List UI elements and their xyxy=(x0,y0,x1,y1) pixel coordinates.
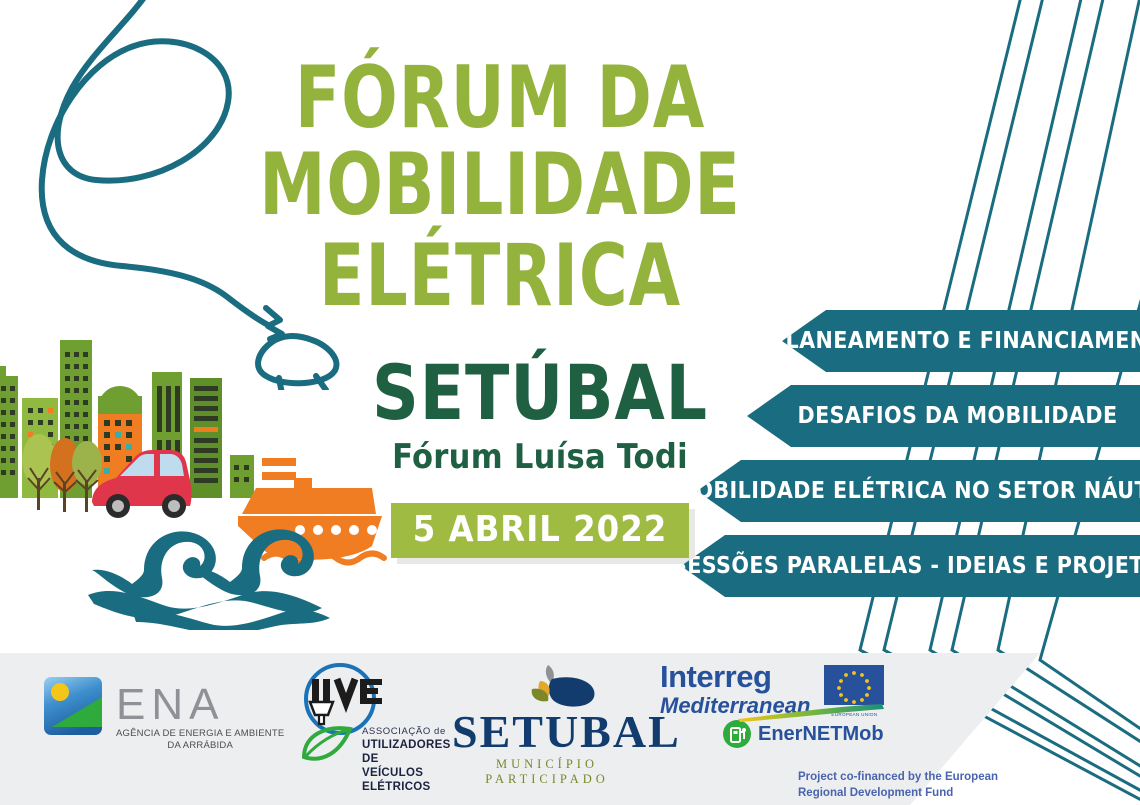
setubal-wordmark: SETUBAL xyxy=(452,709,642,755)
enernetmob-wordmark: EnerNETMob xyxy=(758,724,884,744)
title-line-2: MOBILIDADE ELÉTRICA xyxy=(70,140,930,321)
ena-subtitle-line2: DA ARRÁBIDA xyxy=(116,740,284,751)
ena-mark-icon xyxy=(40,673,114,747)
topic-banner-nautico[interactable]: MOBILIDADE ELÉTRICA NO SETOR NÁUTICO xyxy=(697,460,1140,522)
topic-banner-sessoes[interactable]: SESSÕES PARALELAS - IDEIAS E PROJETOS xyxy=(681,535,1140,597)
setubal-tagline: MUNICÍPIO PARTICIPADO xyxy=(452,757,642,787)
tree-group xyxy=(22,434,102,512)
poster-title: FÓRUM DA MOBILIDADE ELÉTRICA xyxy=(0,56,1000,321)
financing-note-line2: Regional Development Fund xyxy=(798,786,998,802)
financing-note-line1: Project co-financed by the European xyxy=(798,770,998,786)
logo-uve[interactable]: ASSOCIAÇÃO de UTILIZADORES DE VEÍCULOS E… xyxy=(288,661,448,776)
event-poster: FÓRUM DA MOBILIDADE ELÉTRICA SETÚBAL Fór… xyxy=(0,0,1140,805)
topic-banner-desafios[interactable]: DESAFIOS DA MOBILIDADE xyxy=(747,385,1140,447)
logo-ena[interactable]: ENA AGÊNCIA DE ENERGIA E AMBIENTE DA ARR… xyxy=(40,673,284,751)
date-badge-wrapper: 5 ABRIL 2022 xyxy=(391,503,690,558)
enernetmob-brushstroke-icon xyxy=(736,703,886,723)
setubal-emblem-icon xyxy=(452,663,642,709)
enernetmob-charger-icon xyxy=(722,719,752,749)
ena-subtitle-line1: AGÊNCIA DE ENERGIA E AMBIENTE xyxy=(116,728,284,739)
logo-interreg-enernetmob[interactable]: Interreg Mediterranean xyxy=(660,661,990,749)
topic-banner-planeamento[interactable]: PLANEAMENTO E FINANCIAMENTO xyxy=(782,310,1140,372)
ena-wordmark: ENA xyxy=(116,687,284,722)
title-line-1: FÓRUM DA xyxy=(70,56,930,140)
uve-subtitle-line3: VEÍCULOS ELÉTRICOS xyxy=(362,766,451,794)
logo-setubal[interactable]: SETUBAL MUNICÍPIO PARTICIPADO xyxy=(452,663,642,787)
eu-flag-icon xyxy=(824,665,884,705)
financing-note: Project co-financed by the European Regi… xyxy=(798,770,998,801)
interreg-wordmark: Interreg xyxy=(660,661,810,692)
topic-banner-list: PLANEAMENTO E FINANCIAMENTO DESAFIOS DA … xyxy=(670,310,1140,610)
event-date-badge: 5 ABRIL 2022 xyxy=(391,503,690,558)
uve-subtitle-line2: UTILIZADORES DE xyxy=(362,738,451,766)
uve-subtitle-line1: ASSOCIAÇÃO de xyxy=(362,726,451,738)
